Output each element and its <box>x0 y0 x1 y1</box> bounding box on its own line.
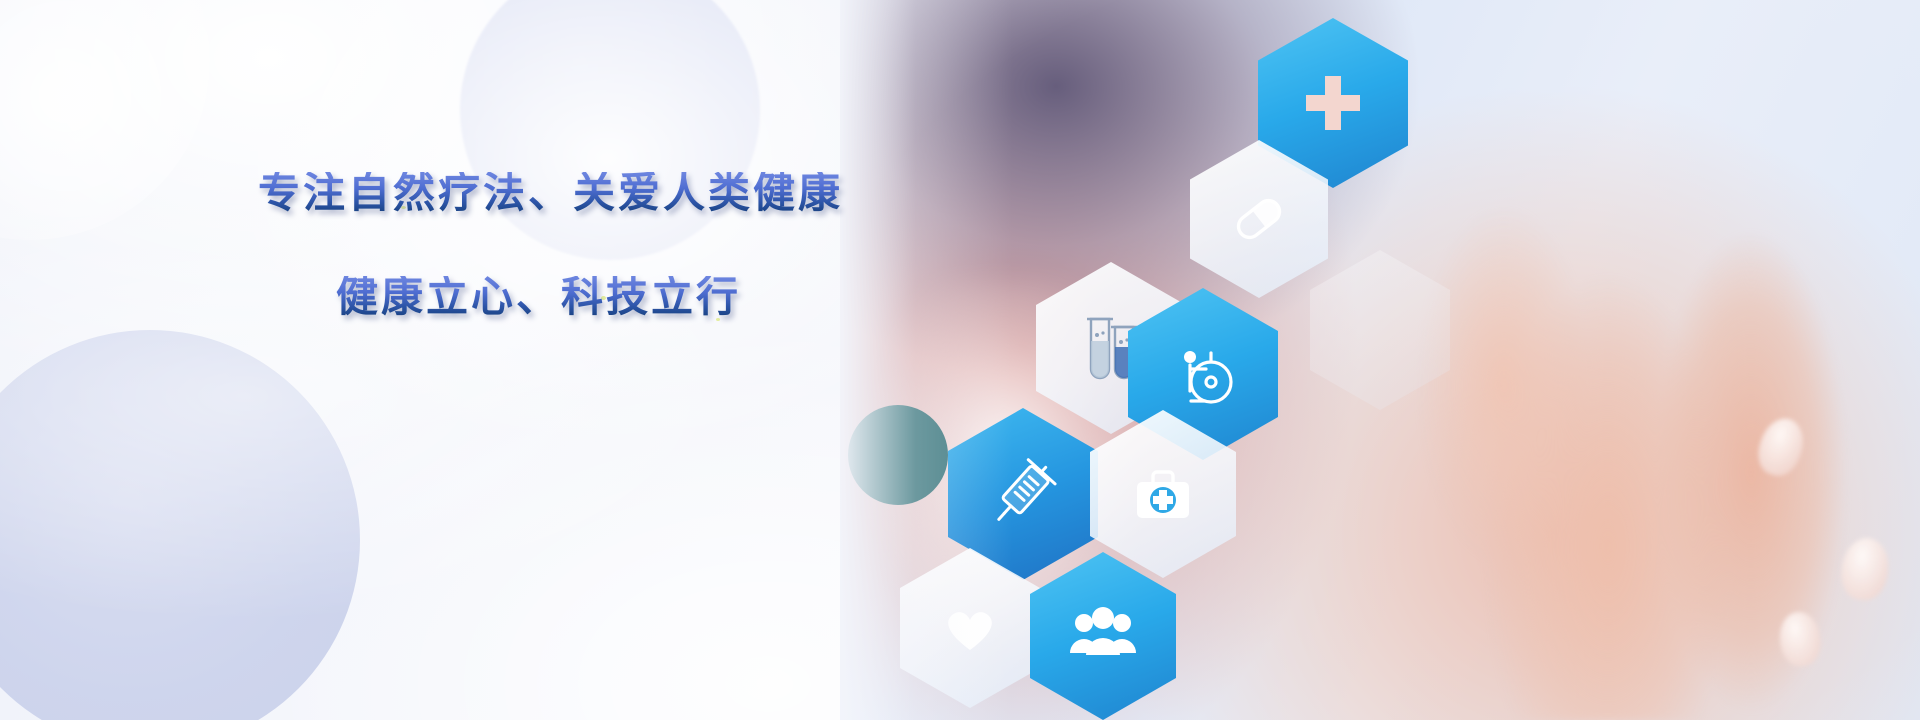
medical-cross-icon <box>1298 68 1368 138</box>
teal-dot <box>848 405 948 505</box>
hero-photo <box>840 0 1920 720</box>
headline-line-2: 健康立心、科技立行 <box>336 276 898 318</box>
headline-line-1: 专注自然疗法、关爱人类健康 <box>258 172 898 214</box>
capsule-pill-icon <box>1222 182 1296 256</box>
hero-banner: 专注自然疗法、关爱人类健康 健康立心、科技立行 <box>0 0 1920 720</box>
headline-block: 专注自然疗法、关爱人类健康 健康立心、科技立行 <box>258 172 898 318</box>
hand-blur <box>1270 100 1920 720</box>
